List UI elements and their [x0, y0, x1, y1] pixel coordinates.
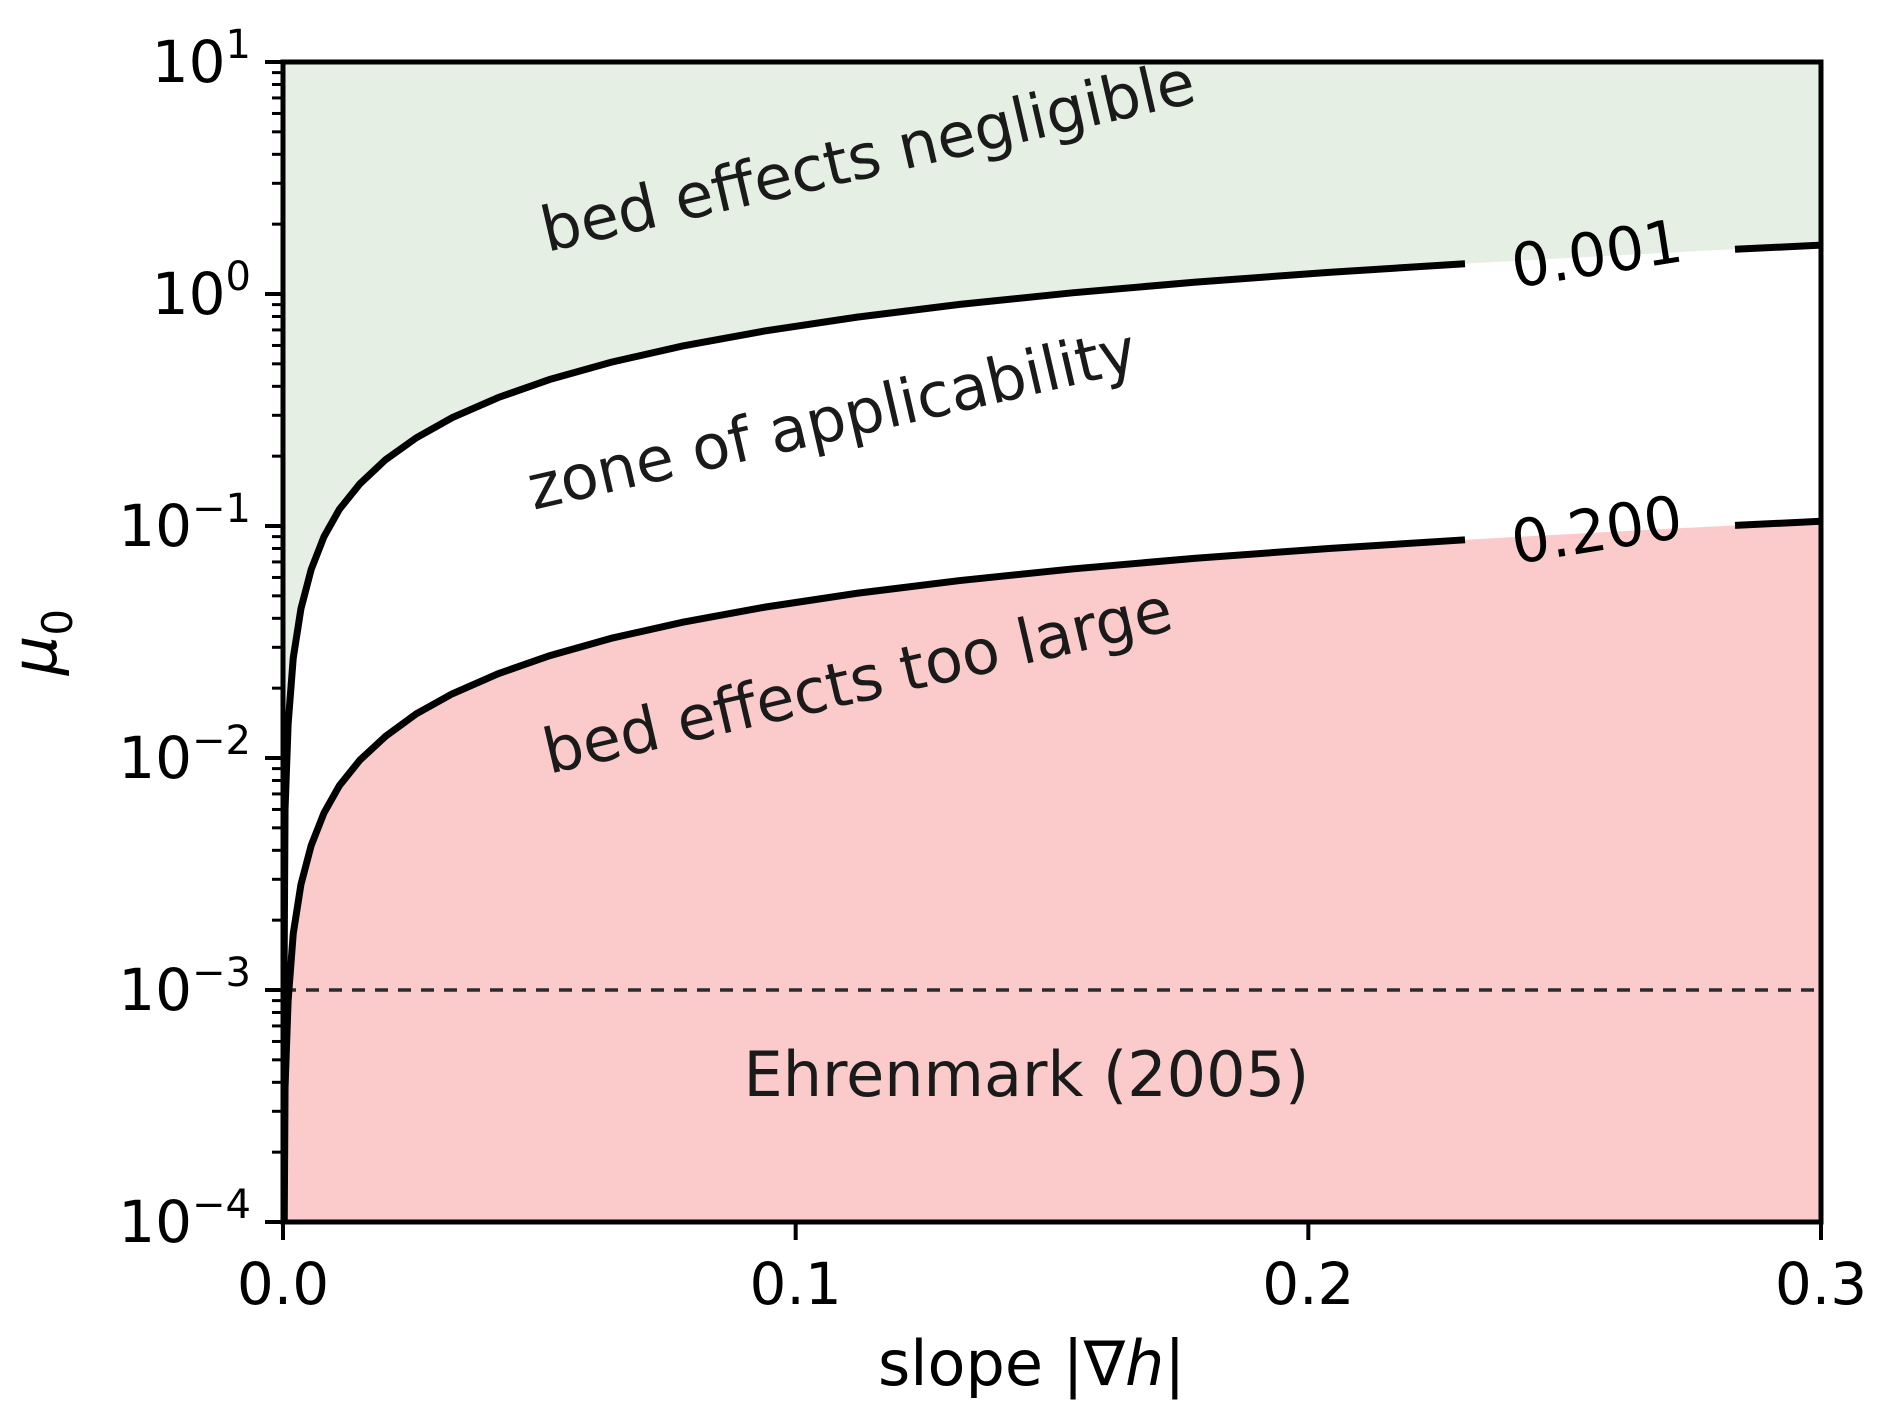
x-axis-label: slope |∇h| — [878, 1327, 1185, 1401]
x-tick-label: 0.2 — [1262, 1250, 1354, 1318]
x-axis-label-plain: slope — [878, 1327, 1063, 1400]
contour-line-0.001-right — [1735, 245, 1821, 249]
figure-container: 10110010−110−210−310−4 0.00.10.20.3 bed … — [0, 0, 1897, 1423]
x-tick-label: 0.1 — [750, 1250, 842, 1318]
y-tick-label: 100 — [152, 254, 251, 328]
x-axis-tick-labels: 0.00.10.20.3 — [237, 1250, 1867, 1318]
y-tick-label: 10−2 — [118, 718, 251, 792]
y-axis-label-subscript: 0 — [33, 609, 82, 636]
y-tick-label: 101 — [152, 22, 251, 96]
ehrenmark-citation-label-text: Ehrenmark (2005) — [744, 1038, 1310, 1111]
y-axis-label: μ0 — [0, 609, 82, 676]
x-axis-ticks — [283, 1222, 1821, 1240]
y-tick-label: 10−4 — [118, 1182, 251, 1256]
y-axis-label-mu: μ — [0, 636, 71, 676]
contour-line-0.200-right — [1735, 521, 1821, 525]
x-tick-label: 0.3 — [1775, 1250, 1867, 1318]
x-axis-label-nabla: ∇ — [1083, 1327, 1126, 1400]
x-tick-label: 0.0 — [237, 1250, 329, 1318]
x-axis-label-math: | — [1063, 1327, 1084, 1401]
ehrenmark-citation-label: Ehrenmark (2005) — [744, 1038, 1310, 1111]
y-tick-label: 10−1 — [118, 486, 251, 560]
x-axis-label-h: h — [1125, 1327, 1164, 1400]
y-axis-ticks — [265, 62, 283, 1222]
y-axis-label-group: μ0 — [0, 609, 82, 676]
y-tick-label: 10−3 — [118, 950, 251, 1024]
y-axis-tick-labels: 10110010−110−210−310−4 — [118, 22, 251, 1256]
contour-chart: 10110010−110−210−310−4 0.00.10.20.3 bed … — [0, 0, 1897, 1423]
